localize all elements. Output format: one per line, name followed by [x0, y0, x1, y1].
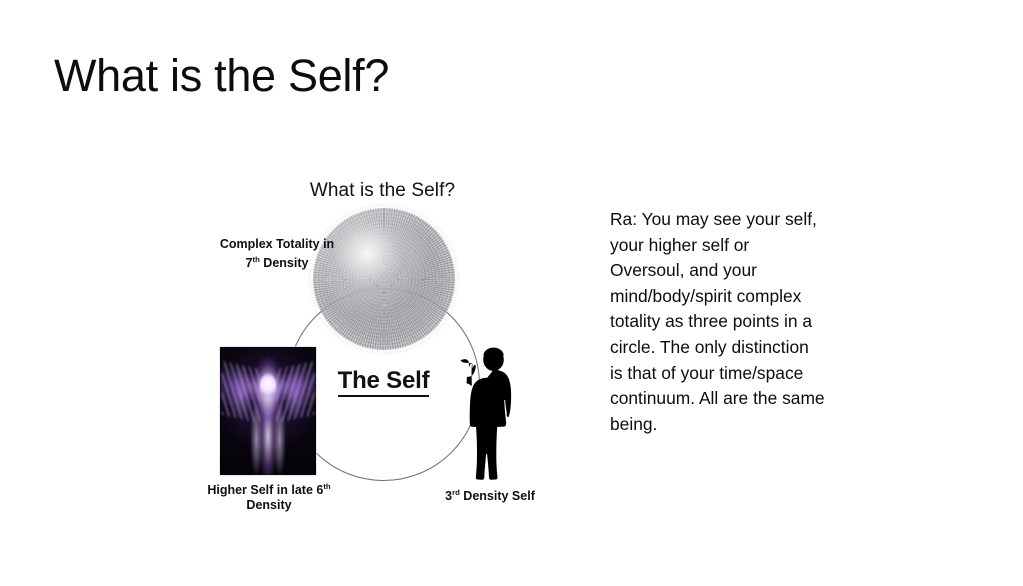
quote-text: Ra: You may see your self, your higher s…	[610, 207, 825, 437]
page-title: What is the Self?	[54, 50, 389, 102]
complex-totality-sphere-icon	[313, 208, 455, 350]
image-watermark: .....	[307, 468, 312, 472]
label-third-density-ordinal-sup: rd	[452, 488, 460, 497]
label-higher-self: Higher Self in late 6th Density	[199, 479, 339, 513]
label-third-density-suffix: Density Self	[460, 489, 535, 503]
label-complex-totality-ordinal-sup: th	[252, 255, 259, 264]
slide-canvas: What is the Self? What is the Self? Comp…	[0, 0, 1023, 586]
diagram-center-label: The Self	[287, 367, 480, 395]
label-complex-totality-line1: Complex Totality in	[220, 237, 334, 251]
violet-core-light	[260, 373, 275, 399]
sphere-body	[313, 208, 455, 350]
label-complex-totality: Complex Totality in 7th Density	[213, 237, 341, 271]
label-higher-self-line2: Density	[246, 498, 291, 512]
diagram-center-label-text: The Self	[338, 367, 430, 397]
label-complex-totality-line2-suffix: Density	[260, 256, 309, 270]
self-diagram[interactable]: What is the Self? Complex Totality in 7t…	[195, 175, 570, 515]
label-higher-self-prefix: Higher Self in late 6	[207, 483, 323, 497]
quote-body: Ra: You may see your self, your higher s…	[610, 207, 825, 437]
violet-wing-left	[222, 361, 260, 423]
label-higher-self-ordinal-sup: th	[323, 482, 330, 491]
diagram-caption: What is the Self?	[195, 180, 570, 202]
label-third-density-self: 3rd Density Self	[435, 485, 545, 504]
